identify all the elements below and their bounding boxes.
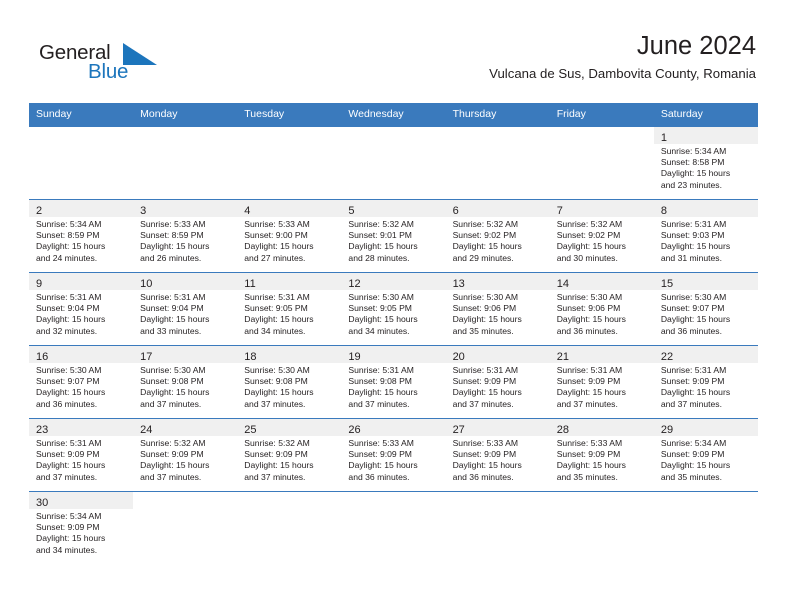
day-number: 25 bbox=[244, 424, 256, 436]
day-number-bar: 8 bbox=[654, 200, 758, 217]
sunset-time: Sunset: 9:09 PM bbox=[557, 376, 650, 387]
calendar-cell-empty bbox=[341, 492, 445, 565]
daylight-duration-line2: and 35 minutes. bbox=[453, 326, 546, 337]
day-details: Sunrise: 5:34 AMSunset: 9:09 PMDaylight:… bbox=[654, 436, 758, 483]
day-cell-inner: 19Sunrise: 5:31 AMSunset: 9:08 PMDayligh… bbox=[341, 346, 445, 418]
calendar-cell-empty bbox=[550, 127, 654, 200]
page-title: June 2024 bbox=[489, 30, 756, 62]
daylight-duration-line1: Daylight: 15 hours bbox=[244, 387, 337, 398]
sunrise-time: Sunrise: 5:33 AM bbox=[348, 438, 441, 449]
day-number: 16 bbox=[36, 351, 48, 363]
calendar-day-cell[interactable]: 20Sunrise: 5:31 AMSunset: 9:09 PMDayligh… bbox=[446, 346, 550, 419]
daylight-duration-line2: and 29 minutes. bbox=[453, 253, 546, 264]
day-details: Sunrise: 5:30 AMSunset: 9:05 PMDaylight:… bbox=[341, 290, 445, 337]
sunset-time: Sunset: 9:07 PM bbox=[661, 303, 754, 314]
day-number: 28 bbox=[557, 424, 569, 436]
daylight-duration-line2: and 37 minutes. bbox=[244, 472, 337, 483]
sunrise-time: Sunrise: 5:30 AM bbox=[140, 365, 233, 376]
sunrise-time: Sunrise: 5:30 AM bbox=[348, 292, 441, 303]
daylight-duration-line1: Daylight: 15 hours bbox=[661, 241, 754, 252]
day-details: Sunrise: 5:32 AMSunset: 9:02 PMDaylight:… bbox=[446, 217, 550, 264]
day-number: 6 bbox=[453, 205, 459, 217]
daylight-duration-line1: Daylight: 15 hours bbox=[557, 314, 650, 325]
calendar-day-cell[interactable]: 12Sunrise: 5:30 AMSunset: 9:05 PMDayligh… bbox=[341, 273, 445, 346]
empty-cell-inner bbox=[133, 492, 237, 564]
day-cell-inner: 7Sunrise: 5:32 AMSunset: 9:02 PMDaylight… bbox=[550, 200, 654, 272]
calendar-day-cell[interactable]: 13Sunrise: 5:30 AMSunset: 9:06 PMDayligh… bbox=[446, 273, 550, 346]
daylight-duration-line2: and 32 minutes. bbox=[36, 326, 129, 337]
day-number: 20 bbox=[453, 351, 465, 363]
sunrise-time: Sunrise: 5:30 AM bbox=[453, 292, 546, 303]
daylight-duration-line1: Daylight: 15 hours bbox=[244, 241, 337, 252]
calendar-day-cell[interactable]: 3Sunrise: 5:33 AMSunset: 8:59 PMDaylight… bbox=[133, 200, 237, 273]
calendar-cell-empty bbox=[133, 492, 237, 565]
day-cell-inner: 10Sunrise: 5:31 AMSunset: 9:04 PMDayligh… bbox=[133, 273, 237, 345]
day-details: Sunrise: 5:30 AMSunset: 9:06 PMDaylight:… bbox=[550, 290, 654, 337]
daylight-duration-line2: and 27 minutes. bbox=[244, 253, 337, 264]
sunset-time: Sunset: 9:01 PM bbox=[348, 230, 441, 241]
calendar-day-cell[interactable]: 27Sunrise: 5:33 AMSunset: 9:09 PMDayligh… bbox=[446, 419, 550, 492]
day-cell-inner: 14Sunrise: 5:30 AMSunset: 9:06 PMDayligh… bbox=[550, 273, 654, 345]
day-cell-inner: 22Sunrise: 5:31 AMSunset: 9:09 PMDayligh… bbox=[654, 346, 758, 418]
day-cell-inner: 9Sunrise: 5:31 AMSunset: 9:04 PMDaylight… bbox=[29, 273, 133, 345]
sunrise-time: Sunrise: 5:33 AM bbox=[244, 219, 337, 230]
sunset-time: Sunset: 9:04 PM bbox=[36, 303, 129, 314]
calendar-week-row: 23Sunrise: 5:31 AMSunset: 9:09 PMDayligh… bbox=[29, 419, 758, 492]
calendar-day-cell[interactable]: 15Sunrise: 5:30 AMSunset: 9:07 PMDayligh… bbox=[654, 273, 758, 346]
day-cell-inner: 2Sunrise: 5:34 AMSunset: 8:59 PMDaylight… bbox=[29, 200, 133, 272]
day-cell-inner: 11Sunrise: 5:31 AMSunset: 9:05 PMDayligh… bbox=[237, 273, 341, 345]
day-number-bar: 6 bbox=[446, 200, 550, 217]
empty-cell-inner bbox=[550, 127, 654, 199]
day-number: 18 bbox=[244, 351, 256, 363]
calendar-cell-empty bbox=[446, 492, 550, 565]
daylight-duration-line2: and 30 minutes. bbox=[557, 253, 650, 264]
sunrise-time: Sunrise: 5:32 AM bbox=[140, 438, 233, 449]
day-details: Sunrise: 5:31 AMSunset: 9:09 PMDaylight:… bbox=[654, 363, 758, 410]
calendar-day-cell[interactable]: 21Sunrise: 5:31 AMSunset: 9:09 PMDayligh… bbox=[550, 346, 654, 419]
day-details: Sunrise: 5:33 AMSunset: 9:09 PMDaylight:… bbox=[446, 436, 550, 483]
calendar-day-cell[interactable]: 23Sunrise: 5:31 AMSunset: 9:09 PMDayligh… bbox=[29, 419, 133, 492]
weekday-header-saturday: Saturday bbox=[654, 103, 758, 127]
daylight-duration-line1: Daylight: 15 hours bbox=[661, 168, 754, 179]
calendar-day-cell[interactable]: 25Sunrise: 5:32 AMSunset: 9:09 PMDayligh… bbox=[237, 419, 341, 492]
day-number-bar: 4 bbox=[237, 200, 341, 217]
day-cell-inner: 18Sunrise: 5:30 AMSunset: 9:08 PMDayligh… bbox=[237, 346, 341, 418]
day-number: 13 bbox=[453, 278, 465, 290]
day-cell-inner: 24Sunrise: 5:32 AMSunset: 9:09 PMDayligh… bbox=[133, 419, 237, 491]
day-number: 30 bbox=[36, 497, 48, 509]
sunset-time: Sunset: 9:09 PM bbox=[36, 522, 129, 533]
sunset-time: Sunset: 9:08 PM bbox=[348, 376, 441, 387]
daylight-duration-line1: Daylight: 15 hours bbox=[348, 314, 441, 325]
day-number-bar: 30 bbox=[29, 492, 133, 509]
daylight-duration-line2: and 37 minutes. bbox=[661, 399, 754, 410]
day-details: Sunrise: 5:30 AMSunset: 9:07 PMDaylight:… bbox=[654, 290, 758, 337]
calendar-week-row: 30Sunrise: 5:34 AMSunset: 9:09 PMDayligh… bbox=[29, 492, 758, 565]
sunset-time: Sunset: 9:09 PM bbox=[140, 449, 233, 460]
daylight-duration-line2: and 36 minutes. bbox=[453, 472, 546, 483]
calendar-day-cell[interactable]: 29Sunrise: 5:34 AMSunset: 9:09 PMDayligh… bbox=[654, 419, 758, 492]
daylight-duration-line1: Daylight: 15 hours bbox=[348, 241, 441, 252]
calendar-cell-empty bbox=[29, 127, 133, 200]
daylight-duration-line2: and 37 minutes. bbox=[557, 399, 650, 410]
empty-cell-inner bbox=[237, 127, 341, 199]
day-number: 2 bbox=[36, 205, 42, 217]
calendar-cell-empty bbox=[654, 492, 758, 565]
day-number: 1 bbox=[661, 132, 667, 144]
daylight-duration-line2: and 37 minutes. bbox=[453, 399, 546, 410]
empty-cell-inner bbox=[133, 127, 237, 199]
sunset-time: Sunset: 9:09 PM bbox=[244, 449, 337, 460]
day-details: Sunrise: 5:31 AMSunset: 9:09 PMDaylight:… bbox=[446, 363, 550, 410]
day-details: Sunrise: 5:34 AMSunset: 9:09 PMDaylight:… bbox=[29, 509, 133, 556]
sunrise-time: Sunrise: 5:30 AM bbox=[244, 365, 337, 376]
sunrise-time: Sunrise: 5:32 AM bbox=[557, 219, 650, 230]
sunrise-time: Sunrise: 5:30 AM bbox=[661, 292, 754, 303]
day-cell-inner: 20Sunrise: 5:31 AMSunset: 9:09 PMDayligh… bbox=[446, 346, 550, 418]
sunrise-time: Sunrise: 5:32 AM bbox=[348, 219, 441, 230]
weekday-header-row: Sunday Monday Tuesday Wednesday Thursday… bbox=[29, 103, 758, 127]
weekday-header-monday: Monday bbox=[133, 103, 237, 127]
daylight-duration-line1: Daylight: 15 hours bbox=[244, 314, 337, 325]
day-cell-inner: 13Sunrise: 5:30 AMSunset: 9:06 PMDayligh… bbox=[446, 273, 550, 345]
daylight-duration-line2: and 36 minutes. bbox=[557, 326, 650, 337]
day-number: 19 bbox=[348, 351, 360, 363]
day-details: Sunrise: 5:32 AMSunset: 9:09 PMDaylight:… bbox=[237, 436, 341, 483]
daylight-duration-line1: Daylight: 15 hours bbox=[453, 460, 546, 471]
empty-cell-inner bbox=[341, 127, 445, 199]
daylight-duration-line1: Daylight: 15 hours bbox=[348, 387, 441, 398]
day-details: Sunrise: 5:34 AMSunset: 8:59 PMDaylight:… bbox=[29, 217, 133, 264]
day-cell-inner: 29Sunrise: 5:34 AMSunset: 9:09 PMDayligh… bbox=[654, 419, 758, 491]
sunrise-time: Sunrise: 5:34 AM bbox=[36, 511, 129, 522]
location-subtitle: Vulcana de Sus, Dambovita County, Romani… bbox=[489, 65, 756, 83]
sunset-time: Sunset: 9:03 PM bbox=[661, 230, 754, 241]
day-details: Sunrise: 5:33 AMSunset: 9:00 PMDaylight:… bbox=[237, 217, 341, 264]
daylight-duration-line2: and 35 minutes. bbox=[557, 472, 650, 483]
daylight-duration-line2: and 37 minutes. bbox=[244, 399, 337, 410]
calendar-day-cell[interactable]: 16Sunrise: 5:30 AMSunset: 9:07 PMDayligh… bbox=[29, 346, 133, 419]
day-details: Sunrise: 5:33 AMSunset: 9:09 PMDaylight:… bbox=[341, 436, 445, 483]
day-number: 11 bbox=[244, 278, 255, 290]
daylight-duration-line2: and 37 minutes. bbox=[36, 472, 129, 483]
daylight-duration-line1: Daylight: 15 hours bbox=[36, 241, 129, 252]
empty-cell-inner bbox=[446, 492, 550, 564]
day-number-bar: 11 bbox=[237, 273, 341, 290]
calendar-day-cell[interactable]: 10Sunrise: 5:31 AMSunset: 9:04 PMDayligh… bbox=[133, 273, 237, 346]
empty-cell-inner bbox=[550, 492, 654, 564]
day-number: 7 bbox=[557, 205, 563, 217]
calendar-day-cell[interactable]: 22Sunrise: 5:31 AMSunset: 9:09 PMDayligh… bbox=[654, 346, 758, 419]
day-number: 3 bbox=[140, 205, 146, 217]
daylight-duration-line2: and 36 minutes. bbox=[661, 326, 754, 337]
day-details: Sunrise: 5:32 AMSunset: 9:02 PMDaylight:… bbox=[550, 217, 654, 264]
logo-text-blue: Blue bbox=[88, 61, 128, 83]
daylight-duration-line1: Daylight: 15 hours bbox=[661, 314, 754, 325]
sunrise-time: Sunrise: 5:33 AM bbox=[453, 438, 546, 449]
daylight-duration-line2: and 34 minutes. bbox=[348, 326, 441, 337]
daylight-duration-line2: and 24 minutes. bbox=[36, 253, 129, 264]
sunset-time: Sunset: 9:08 PM bbox=[244, 376, 337, 387]
day-cell-inner: 8Sunrise: 5:31 AMSunset: 9:03 PMDaylight… bbox=[654, 200, 758, 272]
day-cell-inner: 1Sunrise: 5:34 AMSunset: 8:58 PMDaylight… bbox=[654, 127, 758, 199]
calendar-week-row: 9Sunrise: 5:31 AMSunset: 9:04 PMDaylight… bbox=[29, 273, 758, 346]
weekday-header-sunday: Sunday bbox=[29, 103, 133, 127]
sunrise-time: Sunrise: 5:31 AM bbox=[557, 365, 650, 376]
day-number-bar: 25 bbox=[237, 419, 341, 436]
calendar-day-cell[interactable]: 4Sunrise: 5:33 AMSunset: 9:00 PMDaylight… bbox=[237, 200, 341, 273]
daylight-duration-line2: and 31 minutes. bbox=[661, 253, 754, 264]
daylight-duration-line1: Daylight: 15 hours bbox=[557, 460, 650, 471]
day-number-bar: 1 bbox=[654, 127, 758, 144]
calendar-day-cell[interactable]: 24Sunrise: 5:32 AMSunset: 9:09 PMDayligh… bbox=[133, 419, 237, 492]
daylight-duration-line2: and 36 minutes. bbox=[348, 472, 441, 483]
sunset-time: Sunset: 9:04 PM bbox=[140, 303, 233, 314]
calendar-day-cell[interactable]: 26Sunrise: 5:33 AMSunset: 9:09 PMDayligh… bbox=[341, 419, 445, 492]
title-block: June 2024 Vulcana de Sus, Dambovita Coun… bbox=[489, 30, 756, 83]
daylight-duration-line1: Daylight: 15 hours bbox=[453, 314, 546, 325]
day-cell-inner: 5Sunrise: 5:32 AMSunset: 9:01 PMDaylight… bbox=[341, 200, 445, 272]
daylight-duration-line1: Daylight: 15 hours bbox=[140, 241, 233, 252]
sunset-time: Sunset: 9:08 PM bbox=[140, 376, 233, 387]
sunrise-time: Sunrise: 5:31 AM bbox=[244, 292, 337, 303]
calendar-day-cell[interactable]: 30Sunrise: 5:34 AMSunset: 9:09 PMDayligh… bbox=[29, 492, 133, 565]
sunset-time: Sunset: 9:09 PM bbox=[453, 376, 546, 387]
sunset-time: Sunset: 9:07 PM bbox=[36, 376, 129, 387]
day-number-bar: 20 bbox=[446, 346, 550, 363]
day-number-bar: 27 bbox=[446, 419, 550, 436]
daylight-duration-line1: Daylight: 15 hours bbox=[661, 460, 754, 471]
day-number-bar: 21 bbox=[550, 346, 654, 363]
sunrise-time: Sunrise: 5:34 AM bbox=[661, 438, 754, 449]
sunrise-time: Sunrise: 5:32 AM bbox=[453, 219, 546, 230]
calendar-day-cell[interactable]: 18Sunrise: 5:30 AMSunset: 9:08 PMDayligh… bbox=[237, 346, 341, 419]
calendar-day-cell[interactable]: 14Sunrise: 5:30 AMSunset: 9:06 PMDayligh… bbox=[550, 273, 654, 346]
calendar-cell-empty bbox=[133, 127, 237, 200]
day-number: 21 bbox=[557, 351, 569, 363]
day-details: Sunrise: 5:30 AMSunset: 9:08 PMDaylight:… bbox=[237, 363, 341, 410]
calendar-day-cell[interactable]: 9Sunrise: 5:31 AMSunset: 9:04 PMDaylight… bbox=[29, 273, 133, 346]
calendar-body: 1Sunrise: 5:34 AMSunset: 8:58 PMDaylight… bbox=[29, 127, 758, 565]
day-cell-inner: 21Sunrise: 5:31 AMSunset: 9:09 PMDayligh… bbox=[550, 346, 654, 418]
calendar-day-cell[interactable]: 19Sunrise: 5:31 AMSunset: 9:08 PMDayligh… bbox=[341, 346, 445, 419]
daylight-duration-line1: Daylight: 15 hours bbox=[36, 533, 129, 544]
day-number-bar: 18 bbox=[237, 346, 341, 363]
calendar-day-cell[interactable]: 1Sunrise: 5:34 AMSunset: 8:58 PMDaylight… bbox=[654, 127, 758, 200]
sunset-time: Sunset: 8:59 PM bbox=[140, 230, 233, 241]
sunrise-time: Sunrise: 5:32 AM bbox=[244, 438, 337, 449]
calendar-day-cell[interactable]: 28Sunrise: 5:33 AMSunset: 9:09 PMDayligh… bbox=[550, 419, 654, 492]
daylight-duration-line1: Daylight: 15 hours bbox=[140, 460, 233, 471]
day-number: 27 bbox=[453, 424, 465, 436]
daylight-duration-line2: and 34 minutes. bbox=[36, 545, 129, 556]
day-details: Sunrise: 5:33 AMSunset: 8:59 PMDaylight:… bbox=[133, 217, 237, 264]
sunset-time: Sunset: 9:09 PM bbox=[453, 449, 546, 460]
sunset-time: Sunset: 9:02 PM bbox=[453, 230, 546, 241]
day-details: Sunrise: 5:31 AMSunset: 9:05 PMDaylight:… bbox=[237, 290, 341, 337]
day-number-bar: 5 bbox=[341, 200, 445, 217]
calendar-page: General Blue June 2024 Vulcana de Sus, D… bbox=[0, 0, 792, 612]
day-details: Sunrise: 5:33 AMSunset: 9:09 PMDaylight:… bbox=[550, 436, 654, 483]
day-number-bar: 22 bbox=[654, 346, 758, 363]
empty-cell-inner bbox=[654, 492, 758, 564]
day-number-bar: 17 bbox=[133, 346, 237, 363]
day-cell-inner: 3Sunrise: 5:33 AMSunset: 8:59 PMDaylight… bbox=[133, 200, 237, 272]
sunset-time: Sunset: 8:58 PM bbox=[661, 157, 754, 168]
calendar-cell-empty bbox=[341, 127, 445, 200]
day-number: 12 bbox=[348, 278, 360, 290]
sunset-time: Sunset: 9:05 PM bbox=[348, 303, 441, 314]
daylight-duration-line1: Daylight: 15 hours bbox=[661, 387, 754, 398]
day-number-bar: 13 bbox=[446, 273, 550, 290]
sunset-time: Sunset: 8:59 PM bbox=[36, 230, 129, 241]
daylight-duration-line2: and 35 minutes. bbox=[661, 472, 754, 483]
day-number: 10 bbox=[140, 278, 152, 290]
day-number-bar: 28 bbox=[550, 419, 654, 436]
day-number-bar: 26 bbox=[341, 419, 445, 436]
calendar-day-cell[interactable]: 11Sunrise: 5:31 AMSunset: 9:05 PMDayligh… bbox=[237, 273, 341, 346]
sunrise-time: Sunrise: 5:31 AM bbox=[36, 292, 129, 303]
daylight-duration-line2: and 33 minutes. bbox=[140, 326, 233, 337]
calendar-day-cell[interactable]: 17Sunrise: 5:30 AMSunset: 9:08 PMDayligh… bbox=[133, 346, 237, 419]
day-number-bar: 7 bbox=[550, 200, 654, 217]
sunrise-time: Sunrise: 5:31 AM bbox=[661, 219, 754, 230]
sunrise-time: Sunrise: 5:31 AM bbox=[661, 365, 754, 376]
day-number-bar: 10 bbox=[133, 273, 237, 290]
calendar-day-cell[interactable]: 6Sunrise: 5:32 AMSunset: 9:02 PMDaylight… bbox=[446, 200, 550, 273]
daylight-duration-line1: Daylight: 15 hours bbox=[557, 241, 650, 252]
day-number: 22 bbox=[661, 351, 673, 363]
day-number-bar: 23 bbox=[29, 419, 133, 436]
daylight-duration-line2: and 37 minutes. bbox=[348, 399, 441, 410]
day-details: Sunrise: 5:31 AMSunset: 9:08 PMDaylight:… bbox=[341, 363, 445, 410]
sunset-time: Sunset: 9:06 PM bbox=[453, 303, 546, 314]
sunrise-time: Sunrise: 5:34 AM bbox=[36, 219, 129, 230]
calendar-day-cell[interactable]: 2Sunrise: 5:34 AMSunset: 8:59 PMDaylight… bbox=[29, 200, 133, 273]
day-number: 5 bbox=[348, 205, 354, 217]
calendar-day-cell[interactable]: 7Sunrise: 5:32 AMSunset: 9:02 PMDaylight… bbox=[550, 200, 654, 273]
day-number-bar: 24 bbox=[133, 419, 237, 436]
day-details: Sunrise: 5:32 AMSunset: 9:09 PMDaylight:… bbox=[133, 436, 237, 483]
daylight-duration-line2: and 28 minutes. bbox=[348, 253, 441, 264]
day-cell-inner: 15Sunrise: 5:30 AMSunset: 9:07 PMDayligh… bbox=[654, 273, 758, 345]
day-number: 14 bbox=[557, 278, 569, 290]
daylight-duration-line1: Daylight: 15 hours bbox=[453, 241, 546, 252]
day-details: Sunrise: 5:30 AMSunset: 9:06 PMDaylight:… bbox=[446, 290, 550, 337]
daylight-duration-line1: Daylight: 15 hours bbox=[244, 460, 337, 471]
day-number-bar: 14 bbox=[550, 273, 654, 290]
day-details: Sunrise: 5:31 AMSunset: 9:04 PMDaylight:… bbox=[133, 290, 237, 337]
empty-cell-inner bbox=[29, 127, 133, 199]
day-number-bar: 2 bbox=[29, 200, 133, 217]
daylight-duration-line1: Daylight: 15 hours bbox=[36, 314, 129, 325]
general-blue-logo[interactable]: General Blue bbox=[39, 42, 159, 88]
day-number: 8 bbox=[661, 205, 667, 217]
empty-cell-inner bbox=[237, 492, 341, 564]
day-number: 24 bbox=[140, 424, 152, 436]
day-details: Sunrise: 5:31 AMSunset: 9:03 PMDaylight:… bbox=[654, 217, 758, 264]
empty-cell-inner bbox=[446, 127, 550, 199]
day-cell-inner: 27Sunrise: 5:33 AMSunset: 9:09 PMDayligh… bbox=[446, 419, 550, 491]
sunrise-sunset-calendar: Sunday Monday Tuesday Wednesday Thursday… bbox=[29, 103, 758, 564]
day-details: Sunrise: 5:31 AMSunset: 9:09 PMDaylight:… bbox=[550, 363, 654, 410]
calendar-cell-empty bbox=[550, 492, 654, 565]
sunrise-time: Sunrise: 5:31 AM bbox=[36, 438, 129, 449]
weekday-header-thursday: Thursday bbox=[446, 103, 550, 127]
day-number: 26 bbox=[348, 424, 360, 436]
sunrise-time: Sunrise: 5:31 AM bbox=[348, 365, 441, 376]
day-number-bar: 16 bbox=[29, 346, 133, 363]
day-cell-inner: 30Sunrise: 5:34 AMSunset: 9:09 PMDayligh… bbox=[29, 492, 133, 564]
day-details: Sunrise: 5:32 AMSunset: 9:01 PMDaylight:… bbox=[341, 217, 445, 264]
day-details: Sunrise: 5:31 AMSunset: 9:04 PMDaylight:… bbox=[29, 290, 133, 337]
day-details: Sunrise: 5:30 AMSunset: 9:08 PMDaylight:… bbox=[133, 363, 237, 410]
sunset-time: Sunset: 9:09 PM bbox=[661, 449, 754, 460]
calendar-day-cell[interactable]: 5Sunrise: 5:32 AMSunset: 9:01 PMDaylight… bbox=[341, 200, 445, 273]
day-number: 29 bbox=[661, 424, 673, 436]
day-cell-inner: 16Sunrise: 5:30 AMSunset: 9:07 PMDayligh… bbox=[29, 346, 133, 418]
daylight-duration-line1: Daylight: 15 hours bbox=[348, 460, 441, 471]
day-cell-inner: 4Sunrise: 5:33 AMSunset: 9:00 PMDaylight… bbox=[237, 200, 341, 272]
weekday-header-friday: Friday bbox=[550, 103, 654, 127]
day-number: 15 bbox=[661, 278, 673, 290]
day-number: 4 bbox=[244, 205, 250, 217]
day-number-bar: 19 bbox=[341, 346, 445, 363]
calendar-cell-empty bbox=[237, 492, 341, 565]
day-cell-inner: 6Sunrise: 5:32 AMSunset: 9:02 PMDaylight… bbox=[446, 200, 550, 272]
day-cell-inner: 17Sunrise: 5:30 AMSunset: 9:08 PMDayligh… bbox=[133, 346, 237, 418]
sunset-time: Sunset: 9:06 PM bbox=[557, 303, 650, 314]
day-details: Sunrise: 5:31 AMSunset: 9:09 PMDaylight:… bbox=[29, 436, 133, 483]
calendar-day-cell[interactable]: 8Sunrise: 5:31 AMSunset: 9:03 PMDaylight… bbox=[654, 200, 758, 273]
day-number: 17 bbox=[140, 351, 152, 363]
weekday-header-tuesday: Tuesday bbox=[237, 103, 341, 127]
day-details: Sunrise: 5:34 AMSunset: 8:58 PMDaylight:… bbox=[654, 144, 758, 191]
daylight-duration-line2: and 36 minutes. bbox=[36, 399, 129, 410]
daylight-duration-line1: Daylight: 15 hours bbox=[453, 387, 546, 398]
day-number-bar: 29 bbox=[654, 419, 758, 436]
daylight-duration-line2: and 37 minutes. bbox=[140, 472, 233, 483]
daylight-duration-line2: and 26 minutes. bbox=[140, 253, 233, 264]
daylight-duration-line1: Daylight: 15 hours bbox=[36, 387, 129, 398]
day-cell-inner: 26Sunrise: 5:33 AMSunset: 9:09 PMDayligh… bbox=[341, 419, 445, 491]
sunrise-time: Sunrise: 5:31 AM bbox=[453, 365, 546, 376]
sunset-time: Sunset: 9:05 PM bbox=[244, 303, 337, 314]
daylight-duration-line2: and 34 minutes. bbox=[244, 326, 337, 337]
day-number-bar: 15 bbox=[654, 273, 758, 290]
sunset-time: Sunset: 9:09 PM bbox=[348, 449, 441, 460]
day-number-bar: 9 bbox=[29, 273, 133, 290]
calendar-week-row: 2Sunrise: 5:34 AMSunset: 8:59 PMDaylight… bbox=[29, 200, 758, 273]
day-details: Sunrise: 5:30 AMSunset: 9:07 PMDaylight:… bbox=[29, 363, 133, 410]
day-cell-inner: 12Sunrise: 5:30 AMSunset: 9:05 PMDayligh… bbox=[341, 273, 445, 345]
sunset-time: Sunset: 9:09 PM bbox=[36, 449, 129, 460]
day-cell-inner: 23Sunrise: 5:31 AMSunset: 9:09 PMDayligh… bbox=[29, 419, 133, 491]
sunset-time: Sunset: 9:00 PM bbox=[244, 230, 337, 241]
sunrise-time: Sunrise: 5:33 AM bbox=[140, 219, 233, 230]
sunrise-time: Sunrise: 5:30 AM bbox=[557, 292, 650, 303]
day-number-bar: 3 bbox=[133, 200, 237, 217]
weekday-header-wednesday: Wednesday bbox=[341, 103, 445, 127]
sunrise-time: Sunrise: 5:33 AM bbox=[557, 438, 650, 449]
sunrise-time: Sunrise: 5:31 AM bbox=[140, 292, 233, 303]
day-number: 9 bbox=[36, 278, 42, 290]
sunrise-time: Sunrise: 5:34 AM bbox=[661, 146, 754, 157]
daylight-duration-line1: Daylight: 15 hours bbox=[140, 387, 233, 398]
day-cell-inner: 28Sunrise: 5:33 AMSunset: 9:09 PMDayligh… bbox=[550, 419, 654, 491]
page-header: General Blue June 2024 Vulcana de Sus, D… bbox=[0, 0, 792, 103]
